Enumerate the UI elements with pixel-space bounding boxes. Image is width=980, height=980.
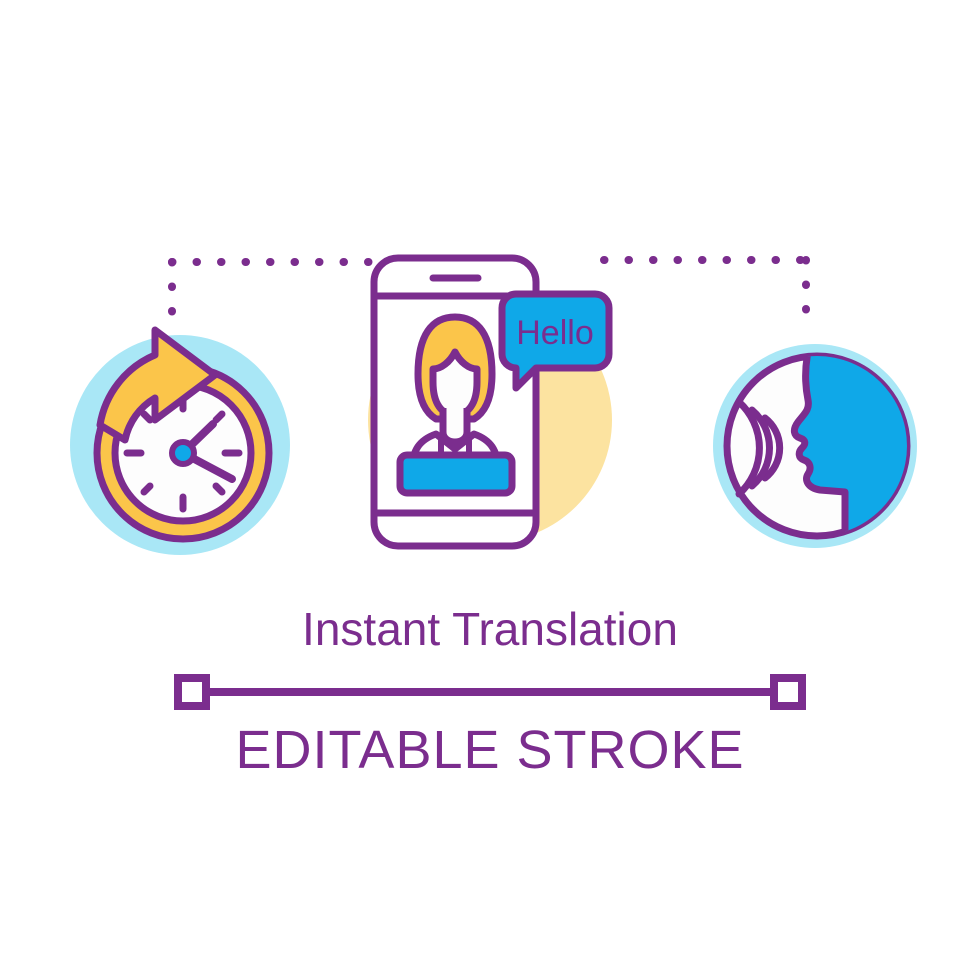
editable-stroke-row: EDITABLE STROKE bbox=[178, 678, 802, 780]
dotted-connector-left bbox=[172, 262, 372, 330]
editable-stroke-label: EDITABLE STROKE bbox=[235, 720, 744, 780]
speaking-head-icon bbox=[713, 344, 930, 548]
stroke-handle-left[interactable] bbox=[178, 678, 206, 706]
stroke-handle-right[interactable] bbox=[774, 678, 802, 706]
dotted-connector-right bbox=[604, 260, 806, 330]
smartphone-with-person-icon: Hello bbox=[368, 258, 612, 546]
concept-illustration: Hello Instant Translation EDITABLE STROK… bbox=[0, 0, 980, 980]
phone-input-bar[interactable] bbox=[400, 455, 512, 493]
page-title: Instant Translation bbox=[302, 603, 678, 655]
clock-with-refresh-arrow-icon bbox=[70, 330, 290, 555]
clock-center-dot bbox=[172, 442, 194, 464]
chat-bubble-text: Hello bbox=[516, 314, 593, 352]
avatar-neck bbox=[443, 408, 467, 442]
